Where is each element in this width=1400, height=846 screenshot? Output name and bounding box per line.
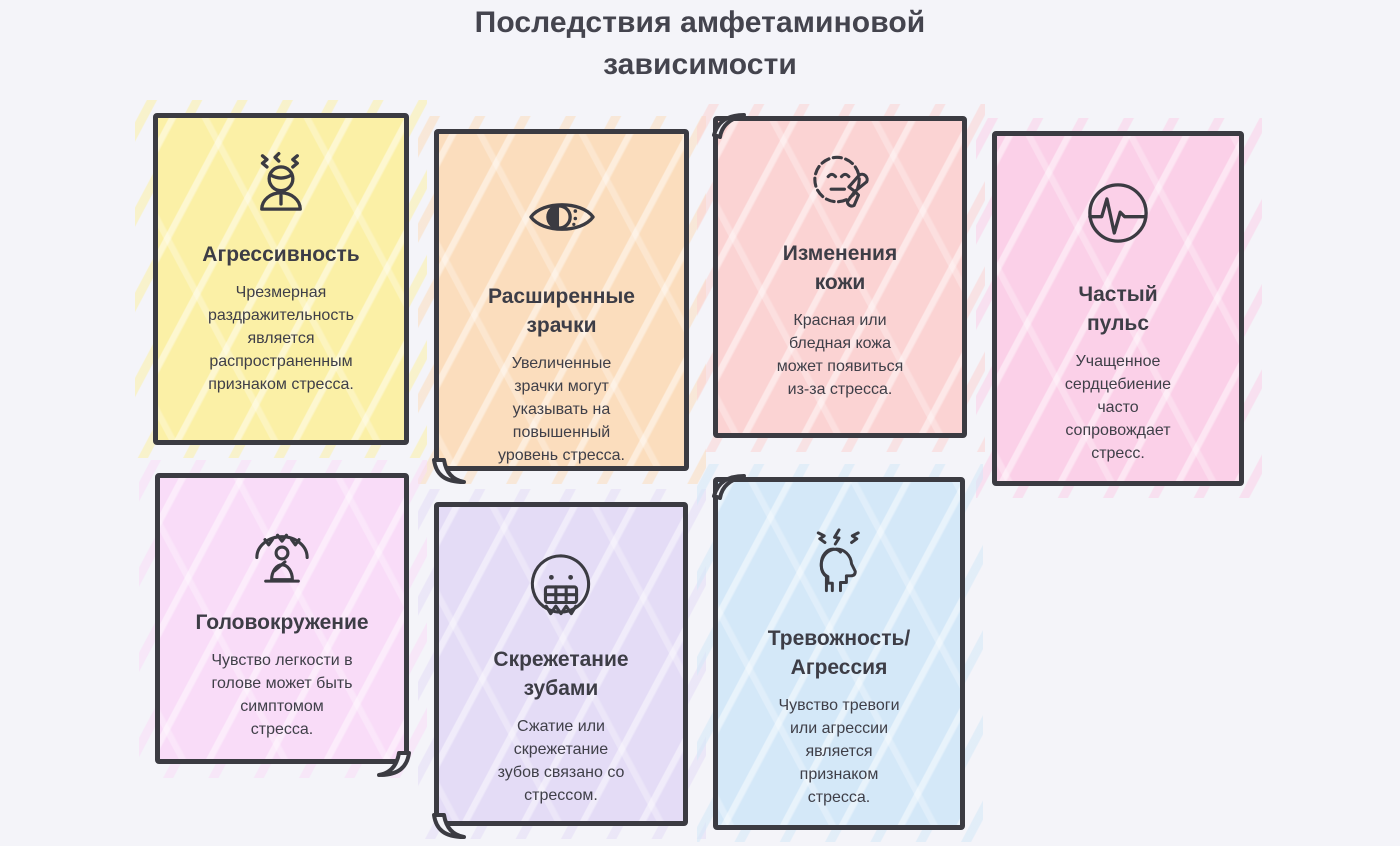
card-description: Увеличенные зрачки могут указывать на по…: [498, 352, 625, 467]
card-description: Красная или бледная кожа может появиться…: [777, 309, 904, 401]
page-title-line-1: Последствия амфетаминовой: [0, 2, 1400, 44]
dizzy-person-icon: [245, 516, 319, 590]
symptom-card-skin-changes[interactable]: Изменения кожи Красная или бледная кожа …: [713, 116, 967, 438]
symptom-card-aggression[interactable]: Агрессивность Чрезмерная раздражительнос…: [153, 113, 409, 445]
card-description: Чрезмерная раздражительность является ра…: [208, 281, 354, 396]
card-description: Чувство тревоги или агрессии является пр…: [778, 694, 899, 809]
card-title: Тревожность/ Агрессия: [768, 624, 911, 682]
card-title: Частый пульс: [1078, 280, 1157, 338]
symptom-card-rapid-pulse[interactable]: Частый пульс Учащенное сердцебиение част…: [992, 131, 1244, 486]
page-title-line-2: зависимости: [0, 44, 1400, 86]
card-title: Агрессивность: [202, 240, 359, 269]
angry-person-icon: [244, 144, 318, 218]
grinding-teeth-icon: [524, 547, 598, 621]
card-description: Сжатие или скрежетание зубов связано со …: [498, 715, 625, 807]
symptom-card-teeth-grinding[interactable]: Скрежетание зубами Сжатие или скрежетани…: [434, 502, 688, 826]
page-title: Последствия амфетаминовой зависимости: [0, 2, 1400, 86]
symptom-card-anxiety-aggression[interactable]: Тревожность/ Агрессия Чувство тревоги ил…: [713, 477, 965, 830]
card-description: Чувство легкости в голове может быть сим…: [211, 649, 352, 741]
symptom-card-dilated-pupils[interactable]: Расширенные зрачки Увеличенные зрачки мо…: [434, 129, 689, 471]
symptom-card-dizziness[interactable]: Головокружение Чувство легкости в голове…: [155, 473, 409, 764]
two-heads-lightning-icon: [802, 524, 876, 598]
face-brush-icon: [803, 147, 877, 221]
card-title: Изменения кожи: [783, 239, 897, 297]
card-title: Скрежетание зубами: [493, 645, 628, 703]
pulse-circle-icon: [1081, 176, 1155, 250]
card-description: Учащенное сердцебиение часто сопровождае…: [1065, 350, 1171, 465]
eye-icon: [525, 180, 599, 254]
card-title: Расширенные зрачки: [488, 282, 635, 340]
card-title: Головокружение: [195, 608, 368, 637]
